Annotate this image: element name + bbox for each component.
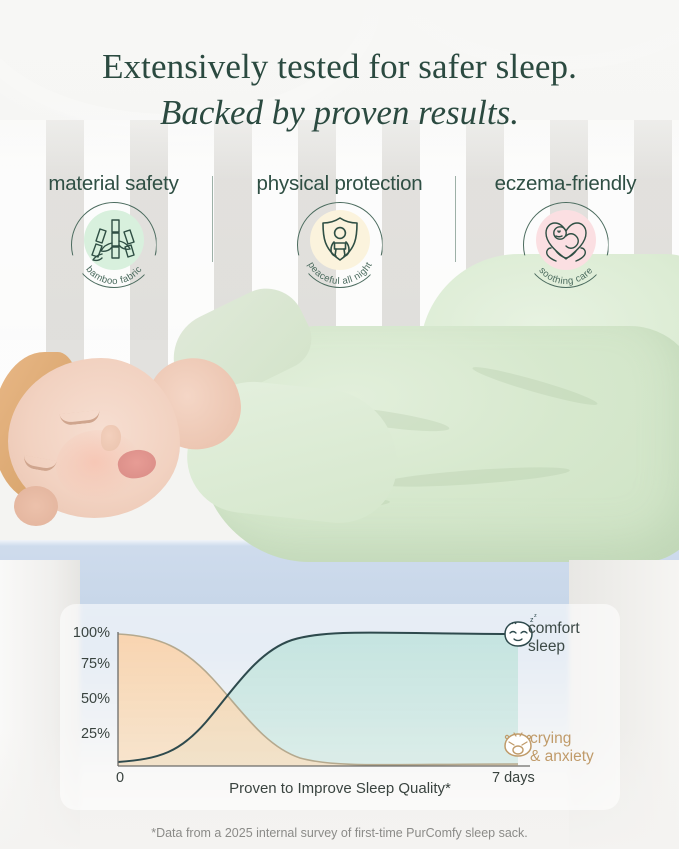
svg-text:z: z [534, 613, 537, 619]
badge-physical-protection: peaceful all night [297, 202, 383, 288]
baby-ear [14, 486, 58, 526]
badge-caption-curved: soothing care [523, 202, 609, 288]
y-tick-25: 25% [64, 726, 110, 742]
product-infographic: Extensively tested for safer sleep. Back… [0, 0, 679, 849]
y-tick-75: 75% [64, 656, 110, 672]
feature-label: eczema-friendly [453, 172, 679, 196]
feature-physical-protection: physical protection [227, 172, 453, 288]
feature-label: material safety [1, 172, 227, 196]
svg-text:bamboo fabric: bamboo fabric [83, 264, 144, 287]
chart-caption: Proven to Improve Sleep Quality* [60, 780, 620, 797]
footnote: *Data from a 2025 internal survey of fir… [0, 826, 679, 840]
headline-line-2: Backed by proven results. [0, 90, 679, 136]
feature-divider [455, 176, 456, 262]
feature-divider [212, 176, 213, 262]
legend-comfort-line-1: comfort [528, 620, 580, 638]
badge-caption-curved: peaceful all night [297, 202, 383, 288]
headline: Extensively tested for safer sleep. Back… [0, 44, 679, 136]
legend-crying-anxiety: crying & anxiety [530, 730, 594, 766]
badge-material-safety: bamboo fabric [71, 202, 157, 288]
legend-crying-line-2: & anxiety [530, 748, 594, 766]
badge-caption: peaceful all night [305, 260, 375, 287]
headline-line-1: Extensively tested for safer sleep. [0, 44, 679, 90]
svg-text:soothing care: soothing care [536, 265, 595, 287]
crying-baby-icon [505, 733, 531, 756]
feature-badges: material safety [0, 172, 679, 290]
sleeping-baby-photo [0, 290, 679, 590]
legend-comfort-sleep: comfort sleep [528, 620, 580, 656]
feature-material-safety: material safety [1, 172, 227, 288]
badge-caption-curved: bamboo fabric [71, 202, 157, 288]
badge-eczema-friendly: soothing care [523, 202, 609, 288]
legend-comfort-line-2: sleep [528, 638, 580, 656]
svg-text:peaceful all night: peaceful all night [305, 260, 375, 287]
sleep-quality-chart-card: z z 100% 75% 50% 25% 0 7 days comfort sl… [60, 604, 620, 810]
feature-label: physical protection [227, 172, 453, 196]
y-tick-50: 50% [64, 691, 110, 707]
feature-eczema-friendly: eczema-friendly [453, 172, 679, 288]
legend-crying-line-1: crying [530, 730, 594, 748]
badge-caption: soothing care [536, 265, 595, 287]
y-tick-100: 100% [64, 625, 110, 641]
badge-caption: bamboo fabric [83, 264, 144, 287]
